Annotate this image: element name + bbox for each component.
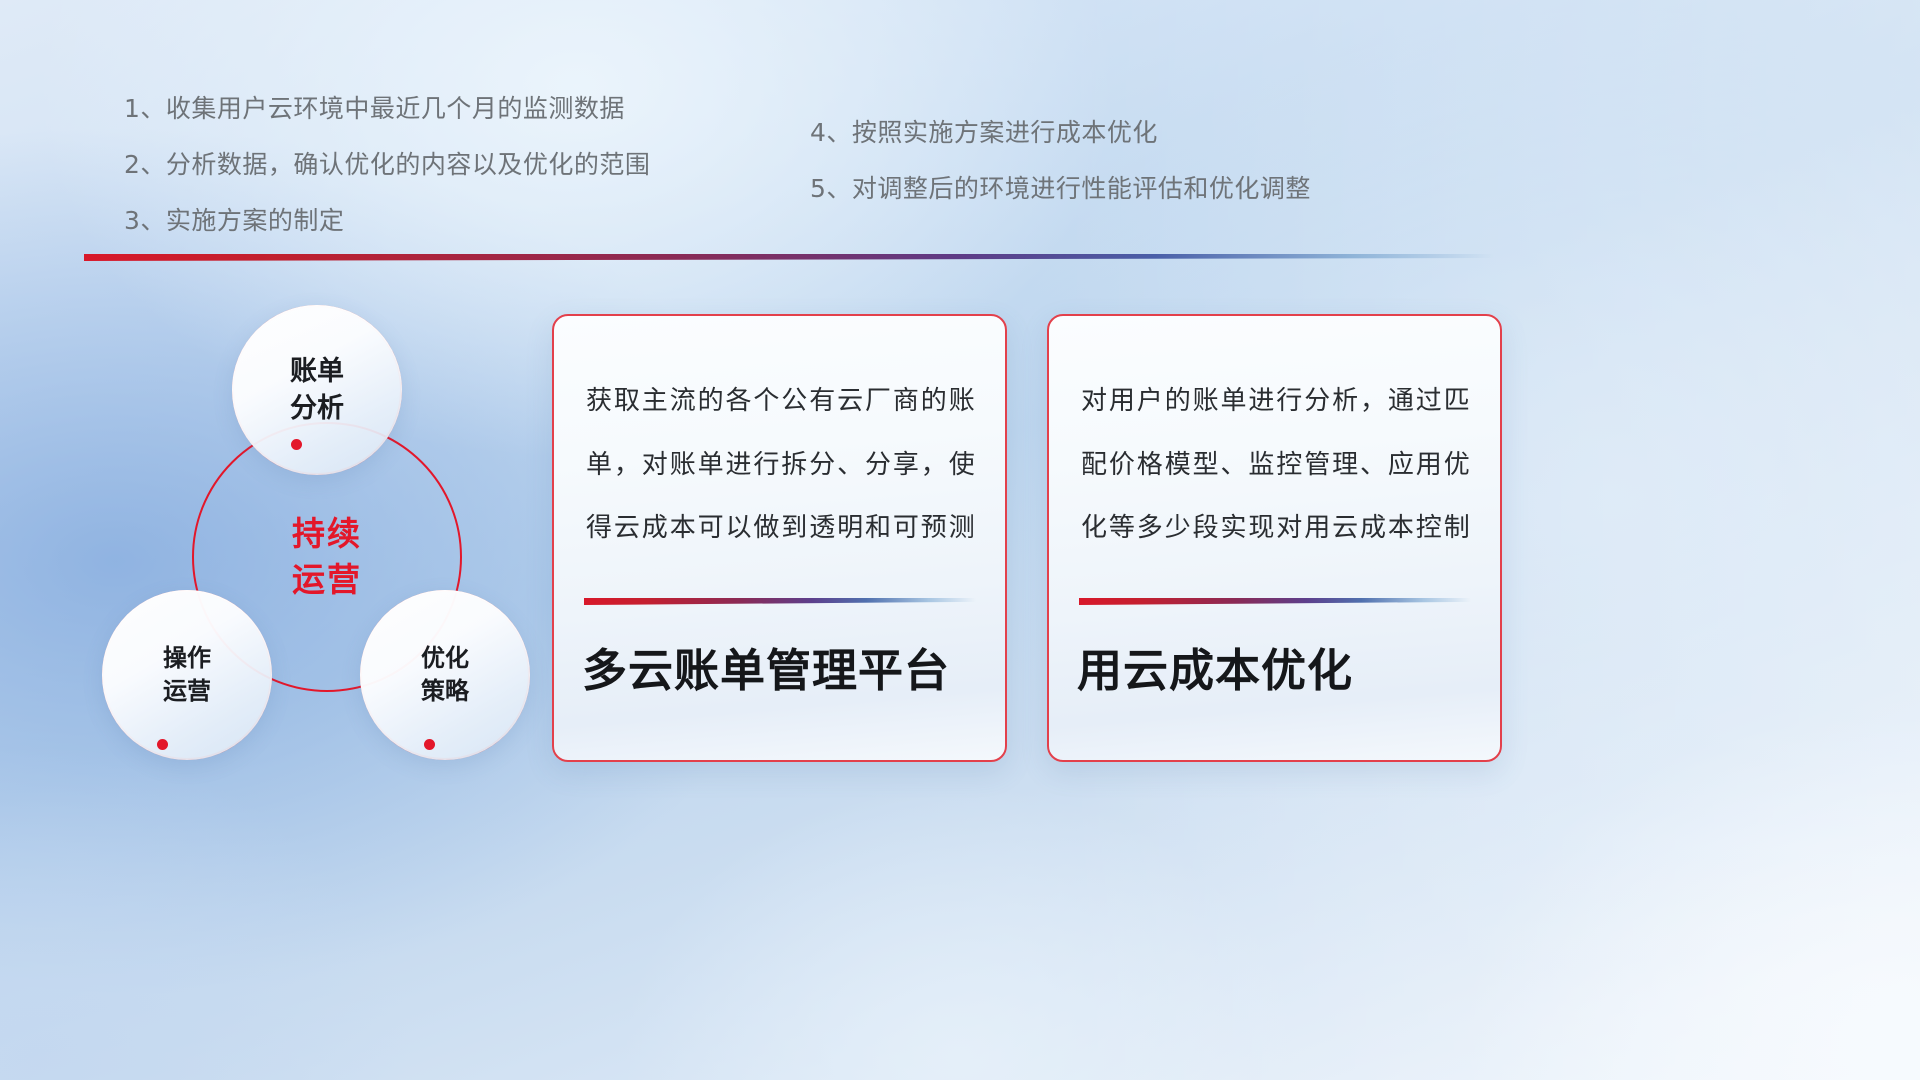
steps-column-left: 1、收集用户云环境中最近几个月的监测数据 2、分析数据，确认优化的内容以及优化的… bbox=[124, 96, 650, 264]
info-card-multicloud-billing-body: 获取主流的各个公有云厂商的账单，对账单进行拆分、分享，使得云成本可以做到透明和可… bbox=[586, 370, 975, 561]
step-item-2: 2、分析数据，确认优化的内容以及优化的范围 bbox=[124, 152, 650, 177]
info-card-multicloud-billing-title: 多云账单管理平台 bbox=[582, 634, 985, 699]
connector-dot-bottom-left bbox=[157, 739, 168, 750]
info-card-multicloud-billing-rule bbox=[584, 598, 976, 605]
info-card-multicloud-billing[interactable]: 获取主流的各个公有云厂商的账单，对账单进行拆分、分享，使得云成本可以做到透明和可… bbox=[552, 314, 1007, 762]
step-item-1: 1、收集用户云环境中最近几个月的监测数据 bbox=[124, 96, 650, 121]
connector-dot-bottom-right bbox=[424, 739, 435, 750]
diagram-center-label: 持续运营 bbox=[192, 422, 462, 692]
steps-list: 1、收集用户云环境中最近几个月的监测数据 2、分析数据，确认优化的内容以及优化的… bbox=[0, 0, 1920, 250]
venn-circle-diagram: 账单分析 操作运营 优化策略 持续运营 bbox=[80, 290, 550, 770]
steps-column-right: 4、按照实施方案进行成本优化 5、对调整后的环境进行性能评估和优化调整 bbox=[810, 120, 1311, 232]
step-item-4: 4、按照实施方案进行成本优化 bbox=[810, 120, 1311, 145]
info-card-cloud-cost-optimization-title: 用云成本优化 bbox=[1077, 634, 1480, 699]
node-billing-analysis-line2: 分析 bbox=[290, 393, 344, 424]
info-card-cloud-cost-optimization[interactable]: 对用户的账单进行分析，通过匹配价格模型、监控管理、应用优化等多少段实现对用云成本… bbox=[1047, 314, 1502, 762]
diagram-center-line1: 持续 bbox=[292, 514, 362, 553]
info-card-cloud-cost-optimization-rule bbox=[1079, 598, 1471, 605]
connector-dot-top bbox=[291, 439, 302, 450]
diagram-center-text: 持续运营 bbox=[292, 511, 362, 602]
info-card-cloud-cost-optimization-body: 对用户的账单进行分析，通过匹配价格模型、监控管理、应用优化等多少段实现对用云成本… bbox=[1081, 370, 1470, 561]
step-item-3: 3、实施方案的制定 bbox=[124, 208, 650, 233]
diagram-center-line2: 运营 bbox=[292, 560, 362, 599]
node-billing-analysis-label: 账单分析 bbox=[290, 353, 344, 428]
node-billing-analysis-line1: 账单 bbox=[290, 356, 344, 387]
step-item-5: 5、对调整后的环境进行性能评估和优化调整 bbox=[810, 176, 1311, 201]
